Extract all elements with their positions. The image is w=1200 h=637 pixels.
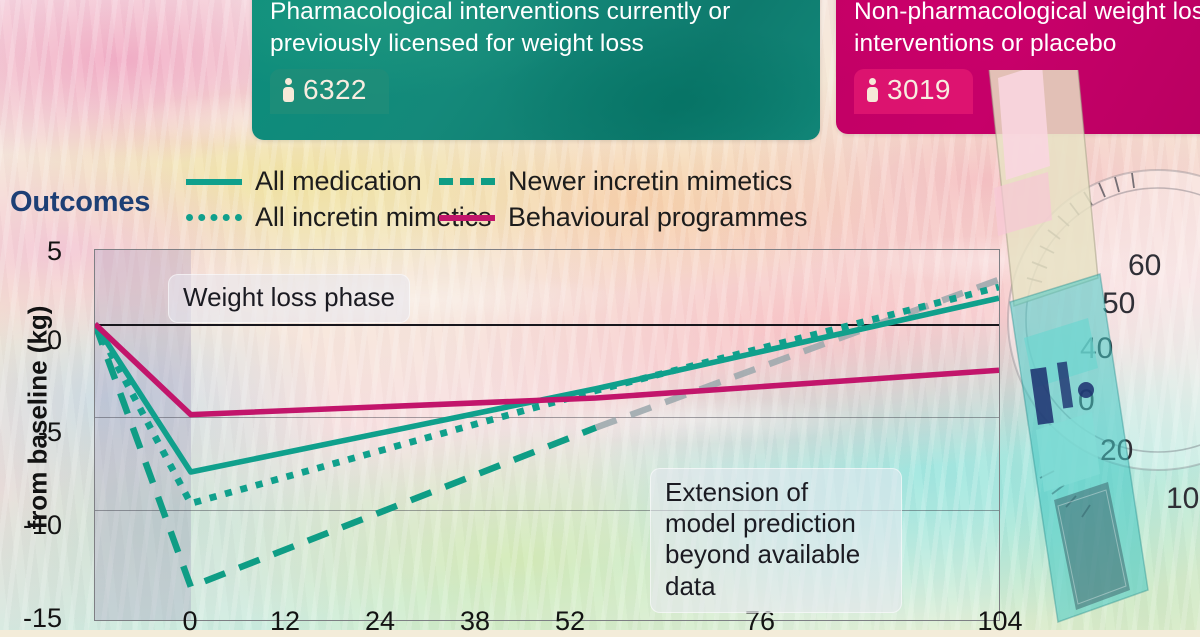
legend-item-all-medication: All medication [186,166,439,197]
legend-line-icon [439,215,495,221]
annotation-weight-loss-phase: Weight loss phase [168,274,410,323]
annotation-model-extension-text: Extension of model prediction beyond ava… [665,477,885,602]
x-axis-tick-label: 0 [155,606,225,637]
legend-label: All medication [255,166,422,197]
legend-label: Newer incretin mimetics [508,166,792,197]
outcomes-heading-label: Outcomes [10,186,150,219]
chart-legend: All medication Newer incretin mimetics A… [186,166,986,233]
series-newer-incretin-mimetics-observed [95,324,596,587]
panel-pharmacological-text: Pharmacological interventions currently … [270,0,802,59]
panel-pharmacological-count-badge: 6322 [270,69,389,114]
legend-item-behavioural-programmes: Behavioural programmes [439,202,807,233]
legend-line-icon [186,214,242,221]
y-axis-tick-label: -15 [2,603,62,634]
y-axis-tick-label: 5 [2,236,62,267]
x-axis-tick-label: 38 [440,606,510,637]
panel-pharmacological-count: 6322 [303,74,367,106]
panel-pharmacological-interventions: Pharmacological interventions currently … [252,0,820,140]
dial-number: 50 [1102,287,1135,320]
panel-non-pharmacological-count: 3019 [887,74,951,106]
outcomes-section-heading: Outcomes [0,186,150,219]
legend-label: Behavioural programmes [508,202,807,233]
panel-non-pharmacological-text: Non-pharmacological weight loss interven… [854,0,1200,59]
legend-line-icon [439,178,495,185]
x-axis-tick-label: 24 [345,606,415,637]
legend-line-icon [186,179,242,185]
person-icon [867,78,878,102]
legend-item-newer-incretin-mimetics: Newer incretin mimetics [439,166,792,197]
annotation-model-extension: Extension of model prediction beyond ava… [650,468,902,613]
weighing-scale-illustration: 60 50 40 0 20 10 [980,70,1200,630]
person-icon [283,78,294,102]
x-axis-tick-label: 52 [535,606,605,637]
dial-number: 10 [1166,482,1199,515]
y-axis-title: from baseline (kg) [23,268,54,568]
series-behavioural-programmes [95,324,999,415]
x-axis-tick-label: 12 [250,606,320,637]
panel-non-pharmacological-count-badge: 3019 [854,69,973,114]
dial-number: 60 [1128,249,1161,282]
legend-item-all-incretin-mimetics: All incretin mimetics [186,202,439,233]
